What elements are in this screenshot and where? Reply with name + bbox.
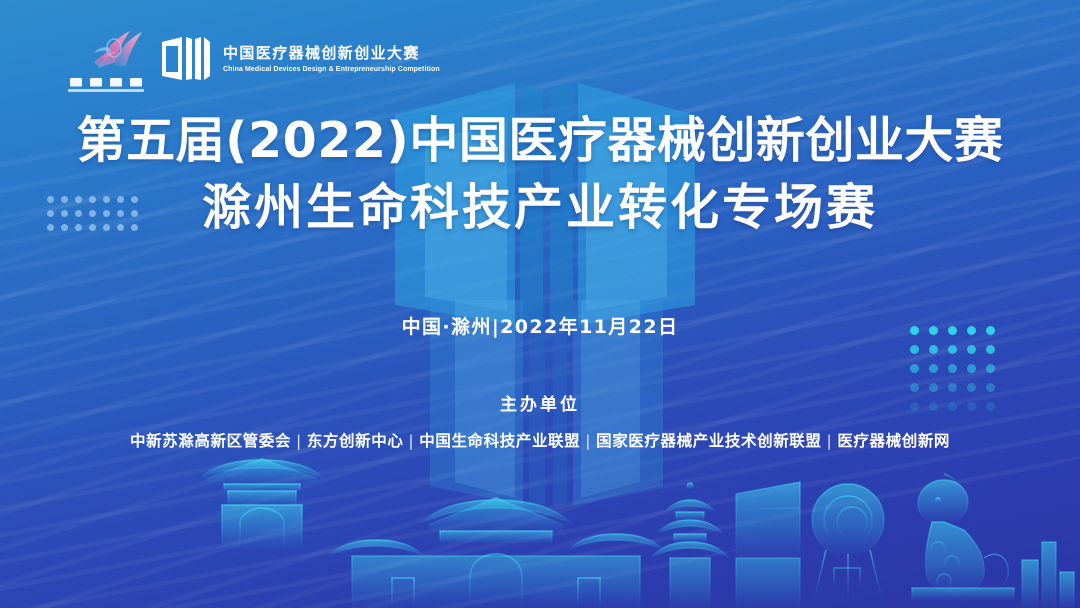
hosts-separator: | — [822, 432, 838, 450]
poster-header: 中国医疗器械创新创业大赛 China Medical Devices Desig… — [0, 0, 1080, 104]
hosts-separator: | — [403, 432, 419, 450]
competition-logo-cn: 中国医疗器械创新创业大赛 — [223, 44, 440, 63]
hosts-separator: | — [291, 432, 307, 450]
pagoda-icon — [650, 483, 730, 608]
host-item: 东方创新中心 — [307, 432, 404, 450]
sub-title: 滁州生命科技产业转化专场赛 — [0, 179, 1080, 237]
competition-logo-en: China Medical Devices Design & Entrepren… — [223, 65, 440, 74]
poster-meta: 中国·滁州|2022年11月22日 — [0, 312, 1080, 339]
chinese-pavilion-icon — [200, 459, 324, 548]
hosts-label: 主办单位 — [0, 390, 1080, 415]
hosts-list: 中新苏滁高新区管委会|东方创新中心|中国生命科技产业联盟|国家医疗器械产业技术创… — [0, 429, 1080, 451]
hosts-section: 主办单位 中新苏滁高新区管委会|东方创新中心|中国生命科技产业联盟|国家医疗器械… — [0, 390, 1080, 451]
chinese-gate-tower-icon — [328, 498, 664, 608]
open-book-door-icon — [160, 33, 212, 85]
small-buildings-icon — [1022, 542, 1074, 608]
landmark-skyline — [0, 438, 1080, 608]
main-title: 第五届(2022)中国医疗器械创新创业大赛 — [0, 112, 1080, 170]
circular-sculpture-icon — [810, 484, 886, 600]
host-item: 国家医疗器械产业技术创新联盟 — [596, 432, 821, 450]
innovation-china-logo — [62, 26, 172, 92]
merlion-statue-icon — [912, 474, 1014, 600]
location-date: 中国·滁州|2022年11月22日 — [0, 312, 1080, 339]
poster-titles: 第五届(2022)中国医疗器械创新创业大赛 滁州生命科技产业转化专场赛 — [0, 112, 1080, 237]
modern-office-tower-icon — [736, 482, 800, 608]
host-item: 医疗器械创新网 — [837, 432, 950, 450]
competition-logo: 中国医疗器械创新创业大赛 China Medical Devices Desig… — [160, 30, 440, 88]
innovation-bird-icon — [62, 26, 172, 76]
event-poster: 中国医疗器械创新创业大赛 China Medical Devices Desig… — [0, 0, 1080, 608]
innovation-china-wordmark — [62, 77, 172, 93]
hosts-separator: | — [580, 432, 596, 450]
host-item: 中国生命科技产业联盟 — [419, 432, 580, 450]
host-item: 中新苏滁高新区管委会 — [130, 432, 291, 450]
